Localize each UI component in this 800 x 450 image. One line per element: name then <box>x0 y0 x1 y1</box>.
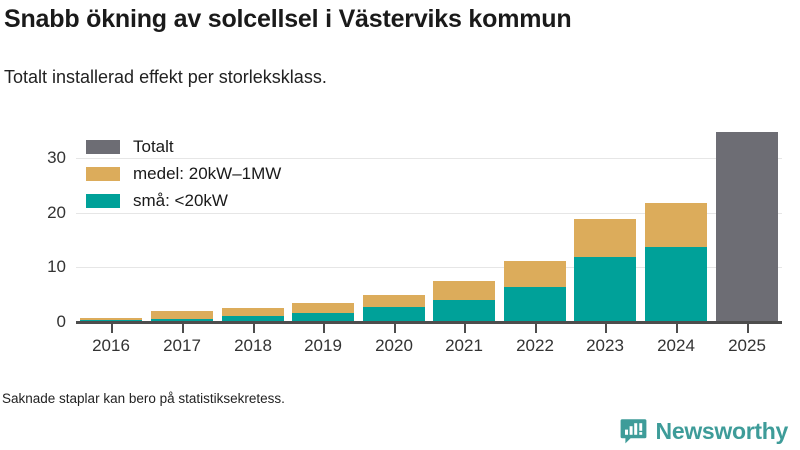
bar-segment-total-2025[interactable] <box>716 132 778 322</box>
bar-segment-medium-2018[interactable] <box>222 308 284 316</box>
brand-name: Newsworthy <box>656 418 788 444</box>
bar-segment-medium-2016[interactable] <box>80 318 142 320</box>
bar-segment-small-2021[interactable] <box>433 300 495 322</box>
legend-item-medium[interactable]: medel: 20kW–1MW <box>86 162 281 186</box>
x-axis-tick-mark <box>464 324 466 333</box>
x-axis-tick-mark <box>747 324 749 333</box>
x-axis-tick-label-2019: 2019 <box>283 336 363 356</box>
bar-segment-medium-2019[interactable] <box>292 303 354 313</box>
y-axis-tick-label: 30 <box>6 149 66 166</box>
x-axis-tick-label-2021: 2021 <box>424 336 504 356</box>
footnote: Saknade staplar kan bero på statistiksek… <box>2 390 285 408</box>
x-axis-tick-mark <box>535 324 537 333</box>
y-axis-tick-label: 0 <box>6 313 66 330</box>
bar-segment-medium-2023[interactable] <box>574 219 636 257</box>
x-axis-tick-label-2016: 2016 <box>71 336 151 356</box>
x-axis-tick-label-2022: 2022 <box>495 336 575 356</box>
legend-swatch-small <box>86 194 120 208</box>
x-axis-tick-mark <box>253 324 255 333</box>
bar-segment-medium-2021[interactable] <box>433 281 495 300</box>
x-axis-tick-mark <box>676 324 678 333</box>
x-axis-tick-label-2017: 2017 <box>142 336 222 356</box>
brand-logo: Newsworthy <box>620 416 788 446</box>
bar-segment-small-2023[interactable] <box>574 256 636 322</box>
x-axis-tick-mark <box>605 324 607 333</box>
bar-segment-medium-2020[interactable] <box>363 295 425 307</box>
y-axis-tick-label: 20 <box>6 204 66 221</box>
legend-label-total: Totalt <box>133 137 174 157</box>
bar-segment-small-2024[interactable] <box>645 247 707 322</box>
chart-bubble-icon <box>620 418 647 445</box>
bar-segment-medium-2017[interactable] <box>151 311 213 319</box>
legend-label-medium: medel: 20kW–1MW <box>133 164 281 184</box>
x-axis-tick-label-2018: 2018 <box>213 336 293 356</box>
y-axis-tick-label: 10 <box>6 258 66 275</box>
legend-swatch-medium <box>86 167 120 181</box>
legend-label-small: små: <20kW <box>133 191 228 211</box>
x-axis-tick-mark <box>323 324 325 333</box>
chart-legend: Totaltmedel: 20kW–1MWsmå: <20kW <box>86 135 281 216</box>
x-axis-tick-mark <box>394 324 396 333</box>
bar-segment-small-2022[interactable] <box>504 287 566 322</box>
legend-item-total[interactable]: Totalt <box>86 135 281 159</box>
x-axis-tick-label-2020: 2020 <box>354 336 434 356</box>
bar-segment-medium-2024[interactable] <box>645 203 707 247</box>
chart-plot-area: 0102030 20162017201820192020202120222023… <box>0 0 800 450</box>
x-axis-tick-label-2025: 2025 <box>707 336 787 356</box>
legend-item-small[interactable]: små: <20kW <box>86 189 281 213</box>
x-axis-tick-mark <box>182 324 184 333</box>
bar-segment-medium-2022[interactable] <box>504 261 566 287</box>
x-axis-tick-label-2023: 2023 <box>565 336 645 356</box>
legend-swatch-total <box>86 140 120 154</box>
bar-segment-small-2020[interactable] <box>363 307 425 322</box>
x-axis-tick-label-2024: 2024 <box>636 336 716 356</box>
x-axis-tick-mark <box>111 324 113 333</box>
